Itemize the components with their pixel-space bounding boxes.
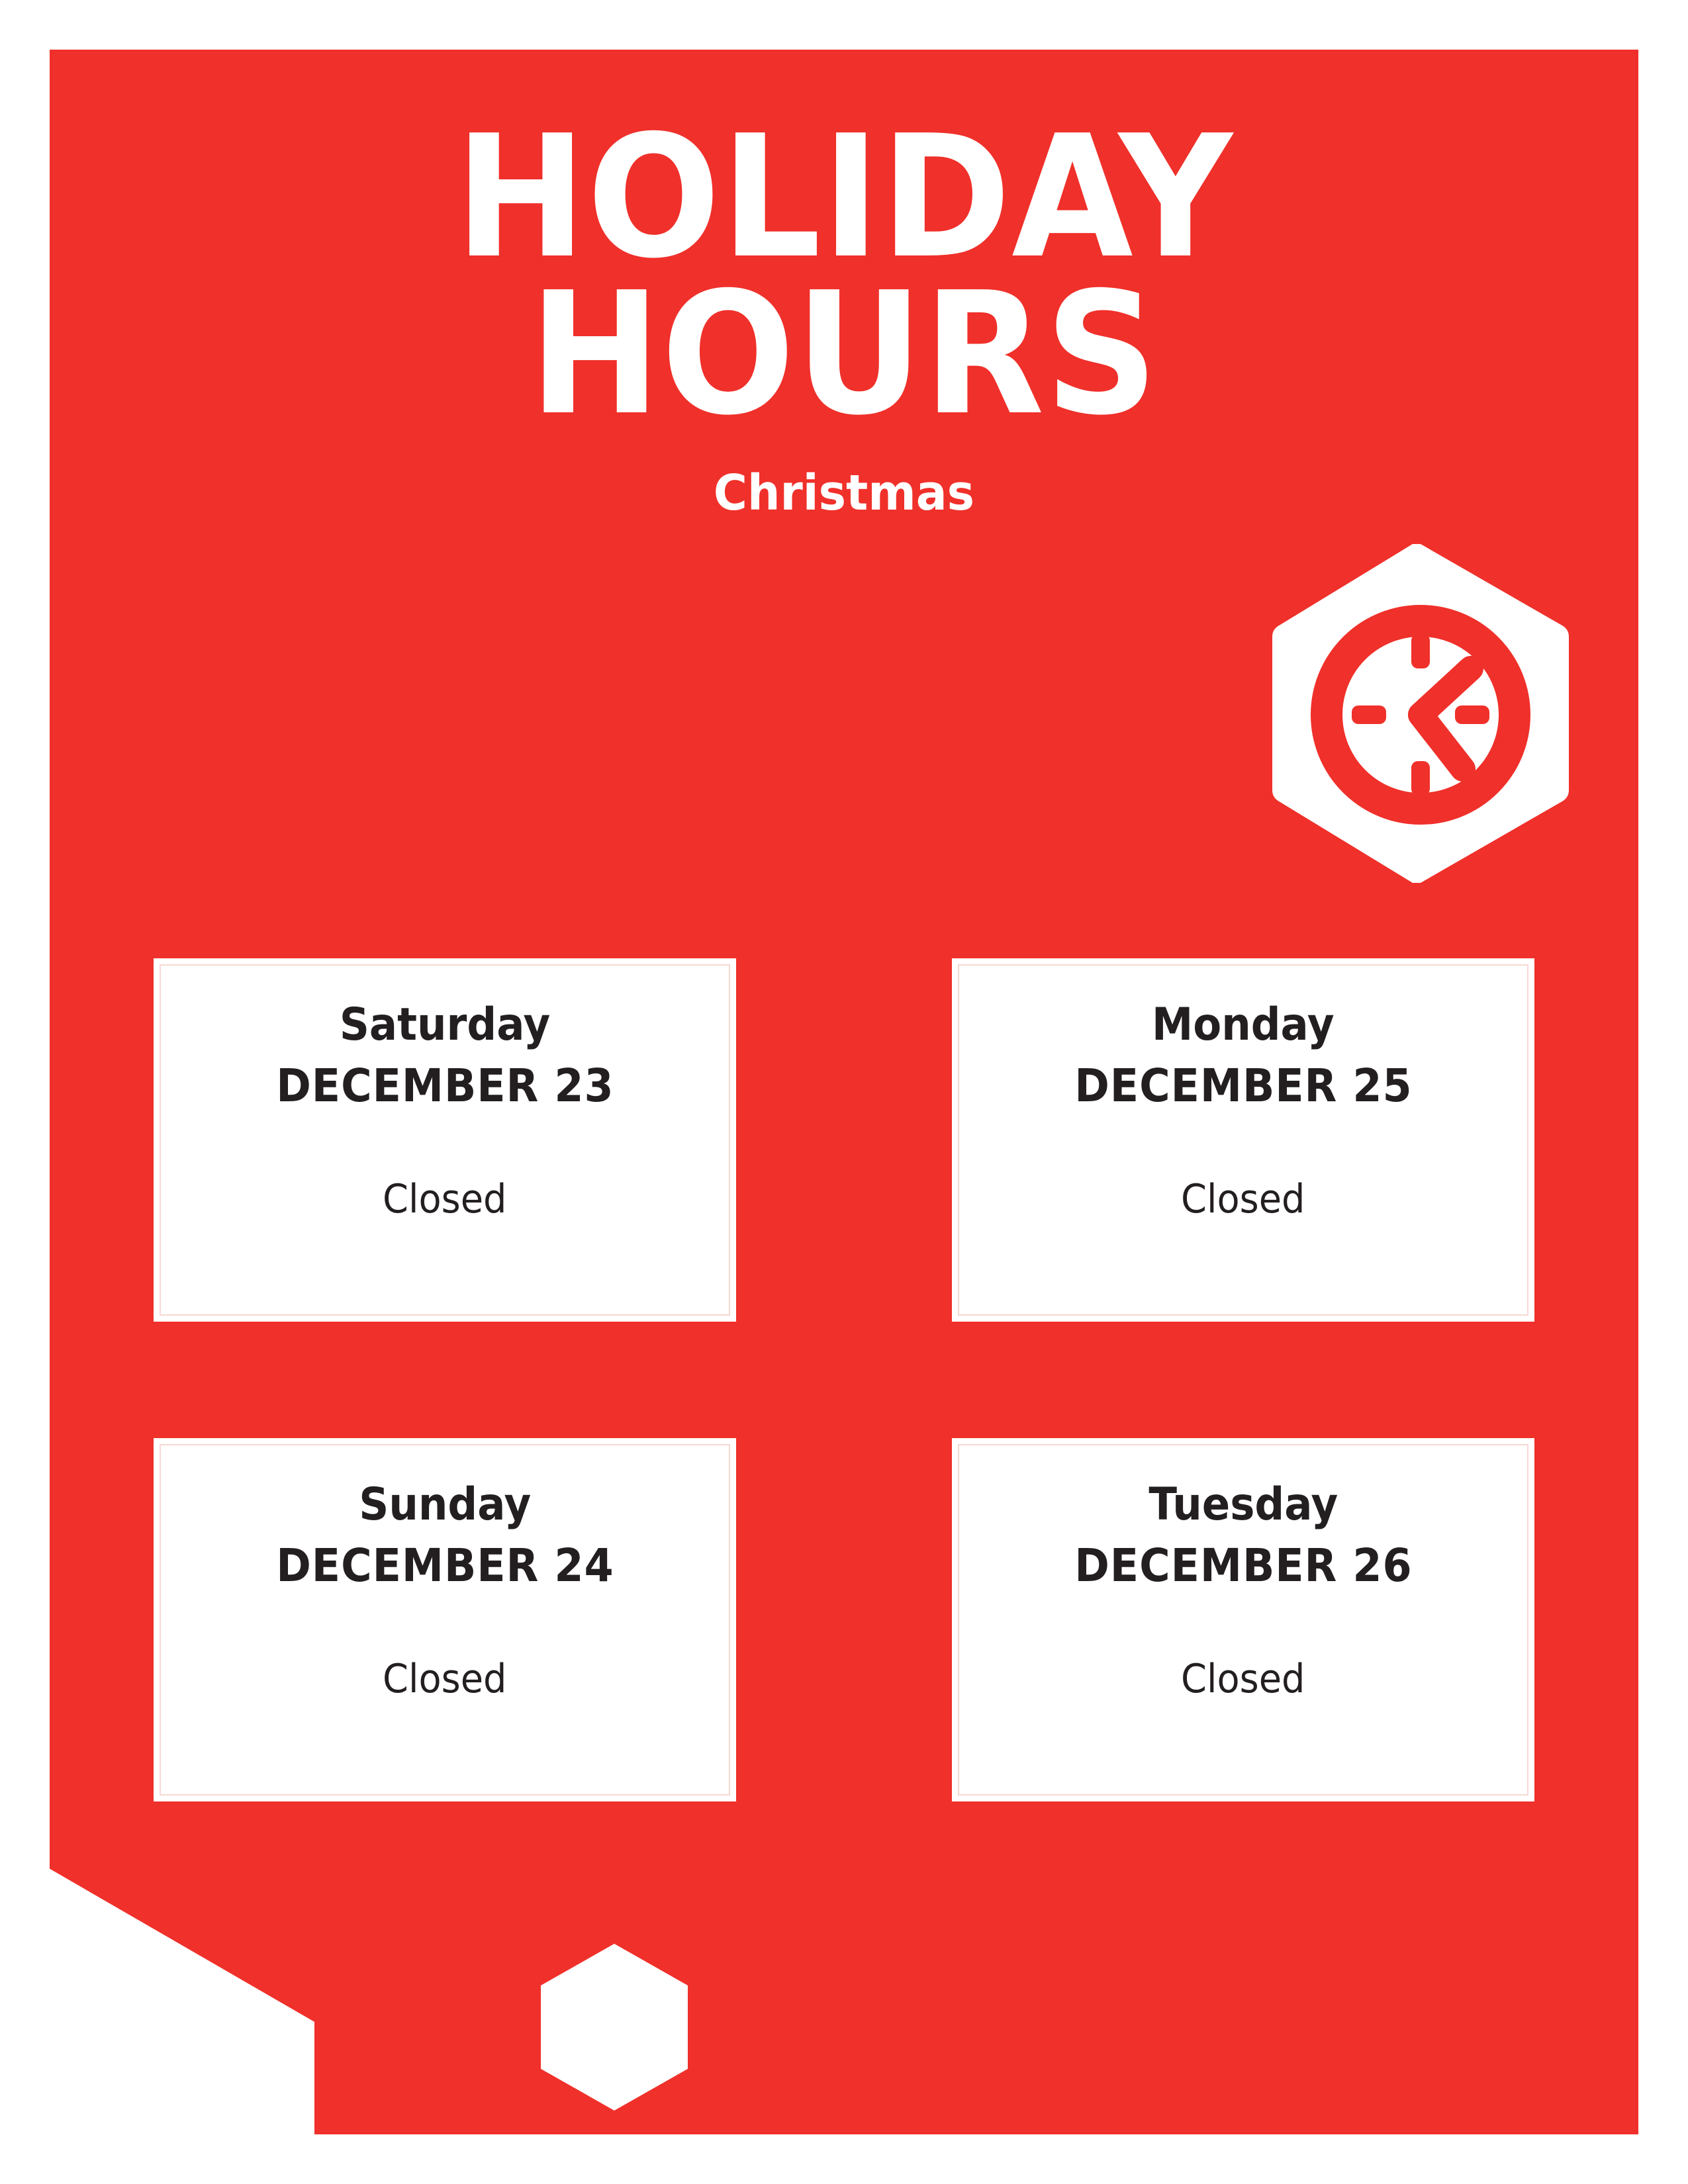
status-badge: Closed — [383, 1177, 506, 1222]
card-day-label: Monday — [1152, 999, 1335, 1051]
card-date-label: DECEMBER 23 — [276, 1060, 614, 1113]
hexagon-decoration-icon — [0, 1827, 314, 2184]
card-day-label: Tuesday — [1149, 1479, 1338, 1531]
status-badge: Closed — [383, 1657, 506, 1702]
status-badge: Closed — [1181, 1657, 1305, 1702]
hours-card: Tuesday DECEMBER 26 Closed — [952, 1438, 1534, 1801]
card-day-label: Saturday — [340, 999, 550, 1051]
card-date-label: DECEMBER 25 — [1074, 1060, 1412, 1113]
holiday-hours-poster: HOLIDAY HOURS Christmas Saturday DECEMBE… — [0, 0, 1688, 2184]
hours-card: Saturday DECEMBER 23 Closed — [154, 958, 736, 1322]
hours-card-grid: Saturday DECEMBER 23 Closed Monday DECEM… — [154, 958, 1534, 1801]
card-day-label: Sunday — [359, 1479, 531, 1531]
status-badge: Closed — [1181, 1177, 1305, 1222]
card-date-label: DECEMBER 26 — [1074, 1540, 1412, 1592]
hexagon-decoration-small-icon — [541, 1944, 688, 2111]
hours-card: Monday DECEMBER 25 Closed — [952, 958, 1534, 1322]
hours-card: Sunday DECEMBER 24 Closed — [154, 1438, 736, 1801]
clock-in-hexagon-icon — [1272, 541, 1569, 886]
card-date-label: DECEMBER 24 — [276, 1540, 614, 1592]
